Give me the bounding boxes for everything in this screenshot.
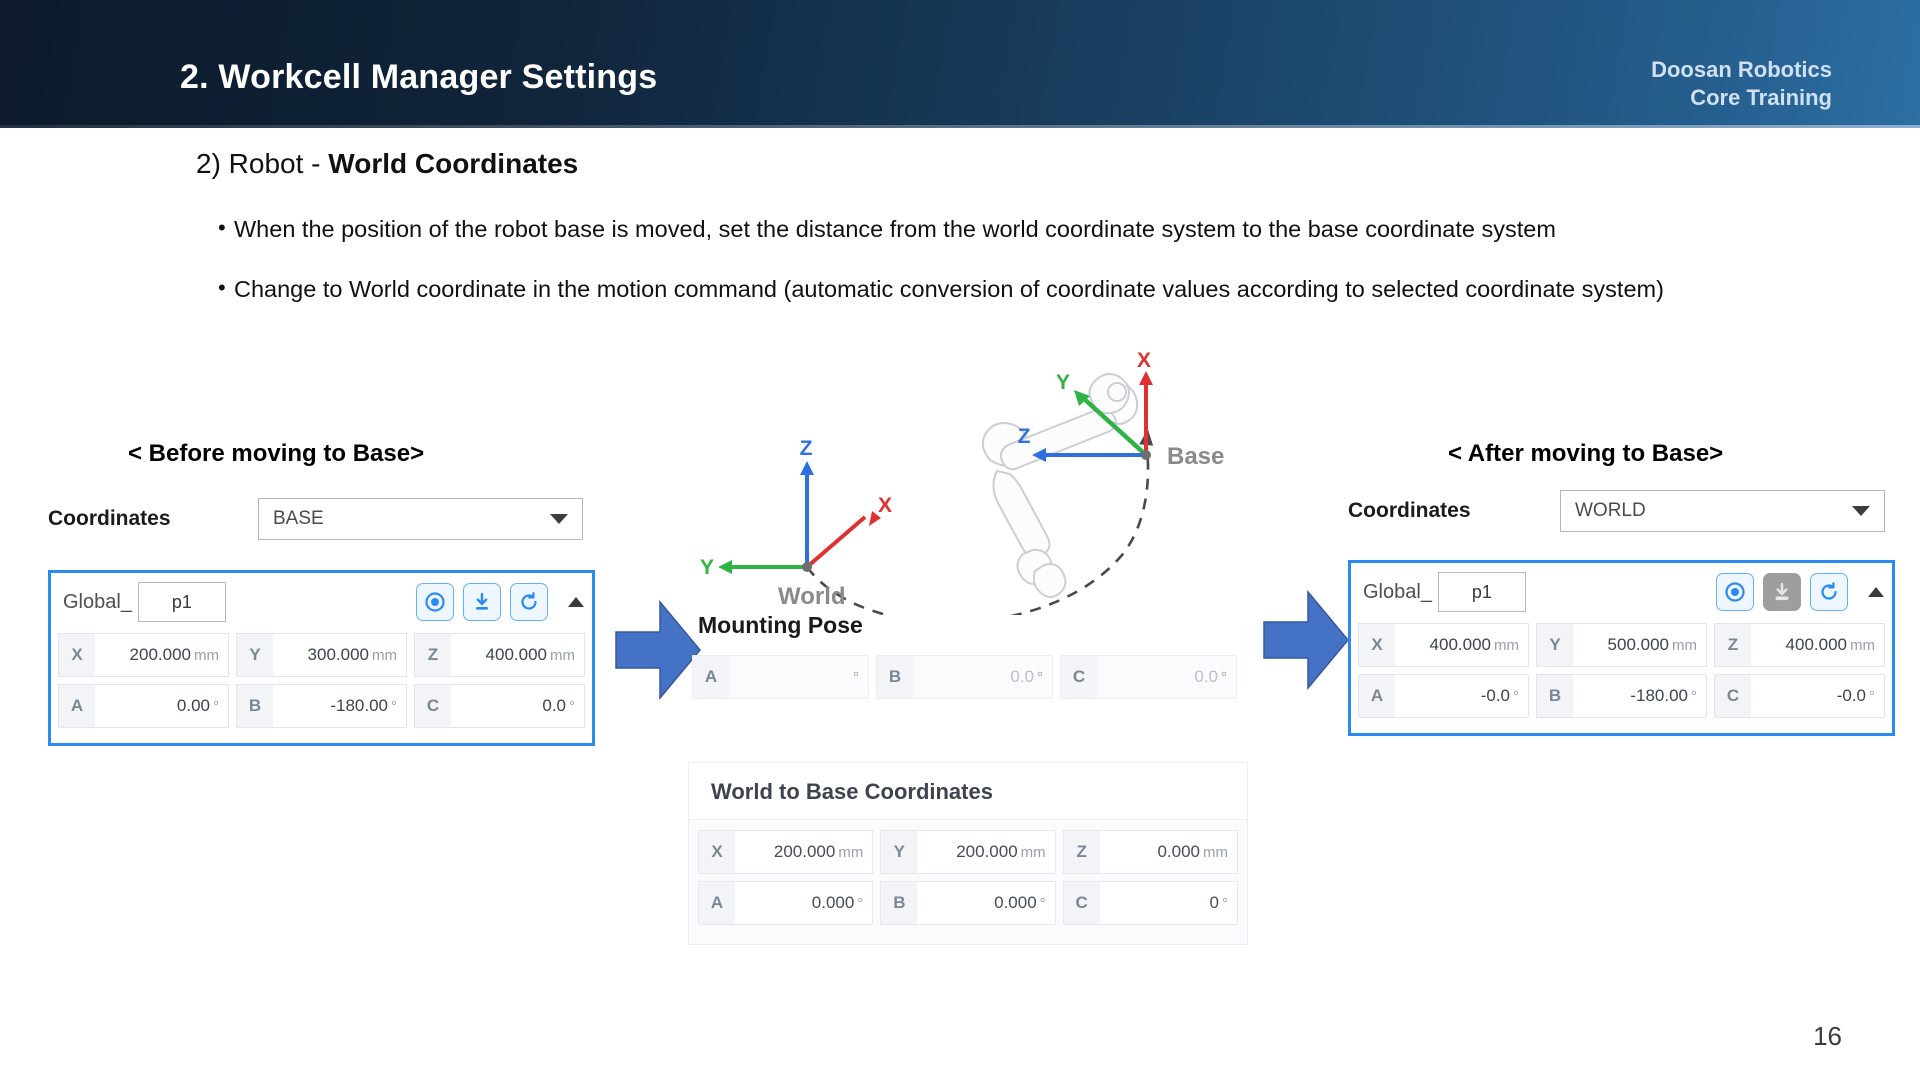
- pose-field-value: 400.000mm: [451, 645, 584, 665]
- pose-field-b[interactable]: B -180.00°: [1536, 674, 1707, 718]
- wtb-field-a[interactable]: A 0.000°: [698, 881, 873, 925]
- mounting-pose-row: A ° B 0.0° C 0.0°: [692, 655, 1237, 699]
- pose-field-value: 400.000mm: [1751, 635, 1884, 655]
- wtb-field-z[interactable]: Z 0.000mm: [1063, 830, 1238, 874]
- brand-line-2: Core Training: [1651, 84, 1832, 112]
- wtb-field-value: 200.000mm: [735, 842, 872, 862]
- pose-field-key: Z: [415, 634, 451, 676]
- mounting-pose-title: Mounting Pose: [698, 612, 863, 639]
- pose-panel-buttons: [1716, 573, 1884, 611]
- bullet-list: • When the position of the robot base is…: [218, 212, 1688, 333]
- wtb-field-c[interactable]: C 0°: [1063, 881, 1238, 925]
- pose-grid-row: X 400.000mm Y 500.000mm Z 400.000mm: [1358, 623, 1885, 667]
- world-to-base-title: World to Base Coordinates: [689, 763, 1247, 820]
- pose-field-z[interactable]: Z 400.000mm: [1714, 623, 1885, 667]
- pose-field-value: 400.000mm: [1395, 635, 1528, 655]
- mounting-field-value: 0.0°: [913, 667, 1052, 687]
- pose-field-value: -0.0°: [1395, 686, 1528, 706]
- mounting-field-value: 0.0°: [1097, 667, 1236, 687]
- pose-grid-row: X 200.000mm Y 300.000mm Z 400.000mm: [58, 633, 585, 677]
- pose-grid-row: A 0.00° B -180.00° C 0.0°: [58, 684, 585, 728]
- pose-field-key: B: [237, 685, 273, 727]
- pose-field-key: Z: [1715, 624, 1751, 666]
- caption-after: < After moving to Base>: [1448, 440, 1723, 468]
- pose-field-value: -180.00°: [273, 696, 406, 716]
- bullet-marker-icon: •: [218, 272, 234, 304]
- pose-field-key: C: [415, 685, 451, 727]
- download-icon: [1763, 573, 1801, 611]
- pose-panel-before: Global_ p1 X 200.000mm: [48, 570, 595, 746]
- pose-panel-header: Global_ p1: [51, 573, 592, 631]
- pose-grid-before: X 200.000mm Y 300.000mm Z 400.000mm A 0.…: [51, 631, 592, 743]
- wtb-field-value: 200.000mm: [917, 842, 1054, 862]
- caption-before: < Before moving to Base>: [128, 440, 424, 468]
- refresh-icon[interactable]: [1810, 573, 1848, 611]
- pose-field-key: A: [59, 685, 95, 727]
- wtb-field-key: C: [1064, 882, 1100, 924]
- slide-header: 2. Workcell Manager Settings Doosan Robo…: [0, 0, 1920, 128]
- wtb-field-value: 0.000°: [917, 893, 1054, 913]
- svg-text:World: World: [778, 583, 846, 610]
- coordinates-select-after[interactable]: WORLD: [1560, 490, 1885, 532]
- pose-field-key: B: [1537, 675, 1573, 717]
- pose-field-value: 500.000mm: [1573, 635, 1706, 655]
- world-to-base-row: X 200.000mm Y 200.000mm Z 0.000mm: [698, 830, 1238, 874]
- bullet-item: • Change to World coordinate in the moti…: [218, 272, 1688, 306]
- pose-field-b[interactable]: B -180.00°: [236, 684, 407, 728]
- wtb-field-b[interactable]: B 0.000°: [880, 881, 1055, 925]
- mounting-field-a[interactable]: A °: [692, 655, 869, 699]
- world-to-base-row: A 0.000° B 0.000° C 0°: [698, 881, 1238, 925]
- coordinates-select-value: BASE: [273, 508, 324, 530]
- bullet-item: • When the position of the robot base is…: [218, 212, 1688, 246]
- target-icon[interactable]: [416, 583, 454, 621]
- mounting-pose-grid: A ° B 0.0° C 0.0°: [692, 655, 1237, 706]
- wtb-field-key: Z: [1064, 831, 1100, 873]
- pose-grid-row: A -0.0° B -180.00° C -0.0°: [1358, 674, 1885, 718]
- right-arrow-icon-1: [614, 598, 702, 702]
- section-title-sep: -: [303, 148, 328, 179]
- pose-field-y[interactable]: Y 300.000mm: [236, 633, 407, 677]
- pose-panel-buttons: [416, 583, 584, 621]
- mounting-field-value: °: [729, 667, 868, 687]
- pose-panel-header: Global_ p1: [1351, 563, 1892, 621]
- pose-field-value: 0.00°: [95, 696, 228, 716]
- wtb-field-x[interactable]: X 200.000mm: [698, 830, 873, 874]
- pose-field-c[interactable]: C -0.0°: [1714, 674, 1885, 718]
- pose-field-value: 300.000mm: [273, 645, 406, 665]
- pose-field-y[interactable]: Y 500.000mm: [1536, 623, 1707, 667]
- point-name-value: p1: [172, 592, 192, 613]
- mounting-field-key: B: [877, 656, 913, 698]
- mounting-field-key: A: [693, 656, 729, 698]
- svg-text:Y: Y: [1056, 371, 1070, 394]
- page-title: 2. Workcell Manager Settings: [180, 58, 657, 97]
- section-title-prefix: 2) Robot: [196, 148, 303, 179]
- svg-text:X: X: [878, 494, 892, 517]
- world-base-diagram: Z Y X World X Y Z: [690, 345, 1260, 615]
- right-arrow-icon-2: [1262, 588, 1350, 692]
- wtb-field-key: Y: [881, 831, 917, 873]
- section-title: 2) Robot - World Coordinates: [196, 148, 578, 180]
- wtb-field-value: 0.000mm: [1100, 842, 1237, 862]
- page-title-number: 2.: [180, 58, 209, 96]
- page-title-text: Workcell Manager Settings: [218, 58, 657, 96]
- download-icon[interactable]: [463, 583, 501, 621]
- slide: 2. Workcell Manager Settings Doosan Robo…: [0, 0, 1920, 1080]
- coordinates-label: Coordinates: [48, 507, 258, 531]
- svg-text:Z: Z: [800, 437, 813, 460]
- section-title-main: World Coordinates: [328, 148, 578, 179]
- pose-field-x[interactable]: X 400.000mm: [1358, 623, 1529, 667]
- mounting-field-b[interactable]: B 0.0°: [876, 655, 1053, 699]
- coordinates-row-after: Coordinates WORLD: [1348, 490, 1885, 532]
- bullet-text: When the position of the robot base is m…: [234, 212, 1556, 246]
- wtb-field-y[interactable]: Y 200.000mm: [880, 830, 1055, 874]
- brand-line-1: Doosan Robotics: [1651, 56, 1832, 84]
- chevron-up-icon[interactable]: [568, 597, 584, 607]
- wtb-field-value: 0.000°: [735, 893, 872, 913]
- chevron-down-icon: [550, 514, 568, 524]
- pose-field-c[interactable]: C 0.0°: [414, 684, 585, 728]
- svg-text:Base: Base: [1167, 443, 1224, 470]
- world-to-base-grid: X 200.000mm Y 200.000mm Z 0.000mm A 0.00…: [689, 820, 1247, 944]
- pose-field-key: C: [1715, 675, 1751, 717]
- wtb-field-key: A: [699, 882, 735, 924]
- global-label: Global_: [63, 591, 132, 614]
- pose-field-value: 200.000mm: [95, 645, 228, 665]
- mounting-field-c[interactable]: C 0.0°: [1060, 655, 1237, 699]
- coordinates-row-before: Coordinates BASE: [48, 498, 583, 540]
- world-frame: Z Y X World: [700, 437, 892, 610]
- coordinates-select-value: WORLD: [1575, 500, 1646, 522]
- target-icon[interactable]: [1716, 573, 1754, 611]
- bullet-marker-icon: •: [218, 212, 234, 244]
- pose-field-value: -0.0°: [1751, 686, 1884, 706]
- pose-field-key: A: [1359, 675, 1395, 717]
- svg-text:X: X: [1137, 349, 1151, 372]
- refresh-icon[interactable]: [510, 583, 548, 621]
- pose-field-key: X: [1359, 624, 1395, 666]
- point-name-value: p1: [1472, 582, 1492, 603]
- wtb-field-value: 0°: [1100, 893, 1237, 913]
- pose-field-key: Y: [1537, 624, 1573, 666]
- bullet-text: Change to World coordinate in the motion…: [234, 272, 1664, 306]
- pose-grid-after: X 400.000mm Y 500.000mm Z 400.000mm A -0…: [1351, 621, 1892, 733]
- pose-panel-after: Global_ p1 X 400.000mm: [1348, 560, 1895, 736]
- page-number: 16: [1813, 1021, 1842, 1052]
- global-label: Global_: [1363, 581, 1432, 604]
- pose-field-a[interactable]: A -0.0°: [1358, 674, 1529, 718]
- pose-field-value: 0.0°: [451, 696, 584, 716]
- pose-field-a[interactable]: A 0.00°: [58, 684, 229, 728]
- pose-field-z[interactable]: Z 400.000mm: [414, 633, 585, 677]
- wtb-field-key: B: [881, 882, 917, 924]
- world-to-base-card: World to Base Coordinates X 200.000mm Y …: [688, 762, 1248, 945]
- mounting-field-key: C: [1061, 656, 1097, 698]
- point-name-field[interactable]: p1: [1438, 572, 1526, 612]
- chevron-down-icon: [1852, 506, 1870, 516]
- pose-field-value: -180.00°: [1573, 686, 1706, 706]
- coordinates-select-before[interactable]: BASE: [258, 498, 583, 540]
- pose-field-key: X: [59, 634, 95, 676]
- coordinates-label: Coordinates: [1348, 499, 1560, 523]
- point-name-field[interactable]: p1: [138, 582, 226, 622]
- chevron-up-icon[interactable]: [1868, 587, 1884, 597]
- wtb-field-key: X: [699, 831, 735, 873]
- pose-field-key: Y: [237, 634, 273, 676]
- pose-field-x[interactable]: X 200.000mm: [58, 633, 229, 677]
- brand-block: Doosan Robotics Core Training: [1651, 56, 1832, 112]
- svg-text:Y: Y: [700, 556, 714, 579]
- svg-text:Z: Z: [1018, 425, 1031, 448]
